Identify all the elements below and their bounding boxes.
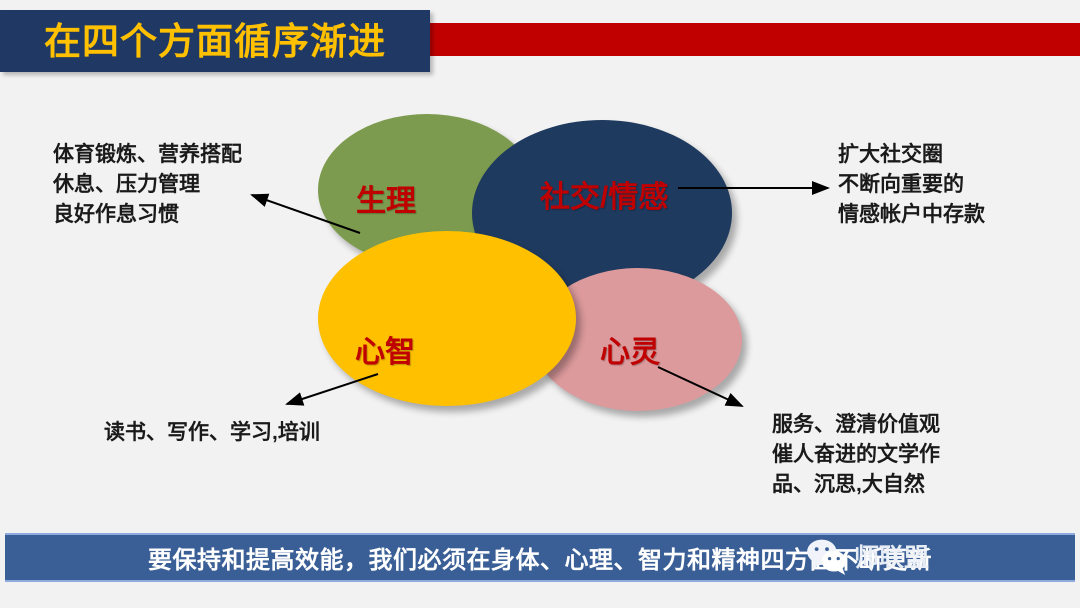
callout-social: 扩大社交圈 不断向重要的 情感帐户中存款 bbox=[838, 140, 985, 229]
callout-mental: 读书、写作、学习,培训 bbox=[104, 418, 320, 448]
callout-physical: 体育锻炼、营养搭配 休息、压力管理 良好作息习惯 bbox=[53, 140, 242, 229]
callout-spirit: 服务、澄清价值观 催人奋进的文学作 品、沉思,大自然 bbox=[772, 410, 940, 499]
wechat-icon bbox=[806, 537, 848, 575]
venn-label-social: 社交/情感 bbox=[540, 172, 668, 216]
watermark-text: 师联盟 bbox=[854, 538, 929, 574]
venn-label-physical: 生理 bbox=[356, 176, 416, 220]
slide-canvas: 在四个方面循序渐进 生理 社交/情感 心灵 心智 体育锻炼、营养搭配 休息、压力… bbox=[0, 0, 1080, 608]
venn-label-spirit: 心灵 bbox=[600, 327, 660, 371]
watermark: 师联盟 bbox=[806, 534, 929, 578]
page-title: 在四个方面循序渐进 bbox=[44, 23, 386, 60]
title-accent-rule bbox=[424, 23, 1080, 56]
venn-ellipse-mental bbox=[318, 231, 576, 406]
slide-title-bar: 在四个方面循序渐进 bbox=[0, 10, 430, 72]
venn-label-mental: 心智 bbox=[355, 327, 415, 371]
